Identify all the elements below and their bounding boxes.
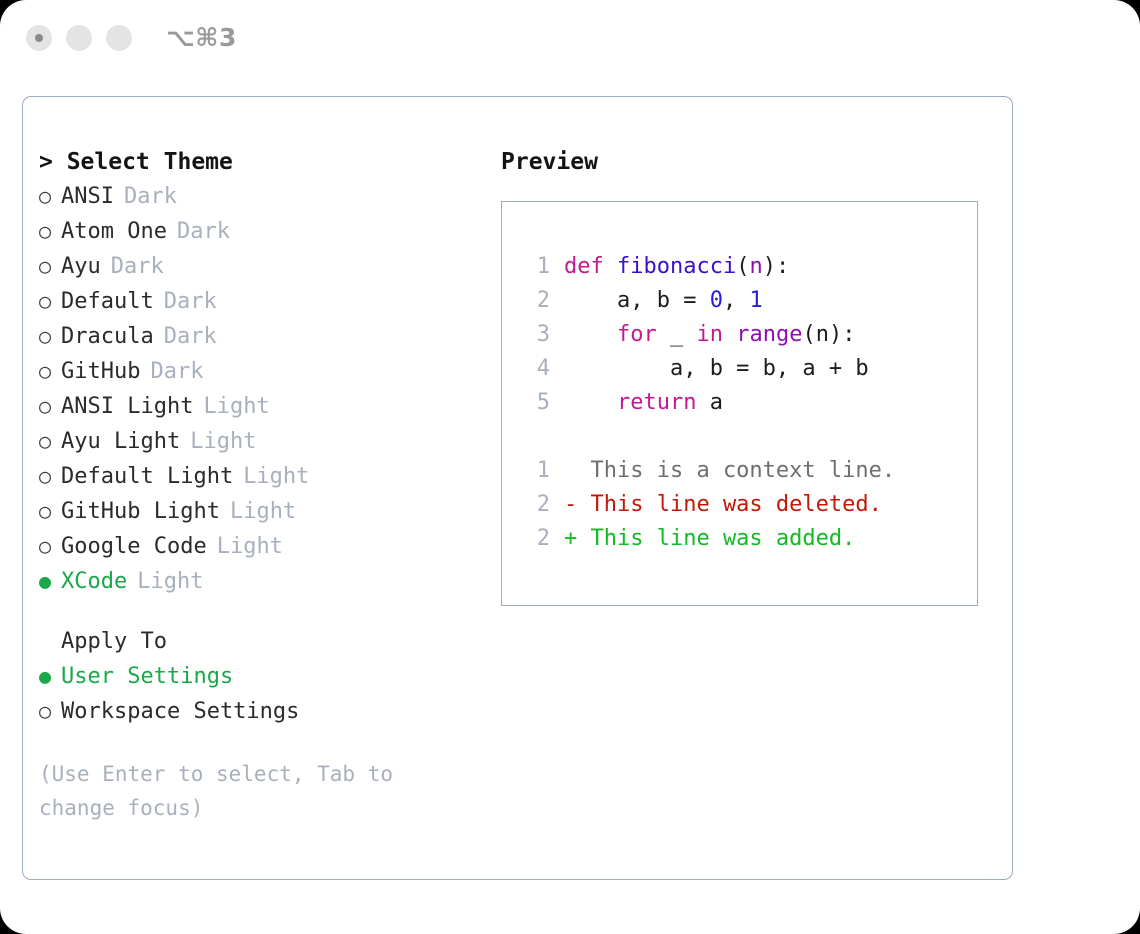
code-token-plain: ( [736,254,749,279]
theme-option-default-light[interactable]: ○Default LightLight [39,459,489,494]
radio-selected-icon: ● [39,659,61,693]
code-token-kw: for [617,322,657,347]
theme-option-label: GitHub [61,355,140,389]
code-line-number: 3 [516,318,550,352]
traffic-light-minimize-icon[interactable] [66,25,92,51]
theme-option-xcode[interactable]: ●XCodeLight [39,564,489,599]
theme-option-kind: Light [190,425,256,459]
radio-unselected-icon: ○ [39,319,61,353]
theme-option-dracula[interactable]: ○DraculaDark [39,319,489,354]
code-line: 3 for _ in range(n): [516,318,977,352]
theme-option-ansi[interactable]: ○ANSIDark [39,179,489,214]
theme-option-label: Default [61,285,154,319]
code-token-kw: def [564,254,617,279]
theme-option-default[interactable]: ○DefaultDark [39,284,489,319]
code-line-number: 1 [516,250,550,284]
code-token-plain: , [723,288,750,313]
traffic-light-maximize-icon[interactable] [106,25,132,51]
code-token-kw: in [696,322,723,347]
theme-option-kind: Dark [111,250,164,284]
code-token-fn: fibonacci [617,254,736,279]
theme-option-label: GitHub Light [61,495,220,529]
theme-option-label: Google Code [61,530,207,564]
radio-unselected-icon: ○ [39,529,61,563]
theme-option-label: Dracula [61,320,154,354]
code-line-number: 5 [516,386,550,420]
title-bar: ⌥⌘3 [0,0,1140,78]
theme-option-kind: Light [243,460,309,494]
keyboard-hint-text: (Use Enter to select, Tab to change focu… [39,757,439,825]
diff-sample: 1 This is a context line.2- This line wa… [516,454,977,556]
code-token-plain [723,322,736,347]
theme-option-kind: Dark [164,285,217,319]
theme-option-kind: Light [203,390,269,424]
theme-option-kind: Dark [150,355,203,389]
diff-line-del: 2- This line was deleted. [516,488,977,522]
theme-option-kind: Light [217,530,283,564]
theme-option-list: ○ANSIDark○Atom OneDark○AyuDark○DefaultDa… [39,179,489,599]
traffic-light-close-icon[interactable] [26,25,52,51]
code-line-content: return a [564,386,723,420]
radio-unselected-icon: ○ [39,424,61,458]
theme-option-kind: Dark [124,180,177,214]
radio-unselected-icon: ○ [39,694,61,728]
code-line-number: 4 [516,352,550,386]
theme-option-label: Ayu [61,250,101,284]
diff-line-content: + This line was added. [564,522,855,556]
code-line-content: a, b = 0, 1 [564,284,763,318]
radio-unselected-icon: ○ [39,179,61,213]
diff-line-add: 2+ This line was added. [516,522,977,556]
radio-unselected-icon: ○ [39,389,61,423]
theme-option-kind: Light [137,565,203,599]
theme-option-ansi-light[interactable]: ○ANSI LightLight [39,389,489,424]
radio-unselected-icon: ○ [39,284,61,318]
diff-line-number: 2 [516,488,550,522]
code-line: 4 a, b = b, a + b [516,352,977,386]
apply-to-heading: Apply To [39,625,489,659]
code-token-plain: (n): [802,322,855,347]
theme-option-github[interactable]: ○GitHubDark [39,354,489,389]
radio-unselected-icon: ○ [39,494,61,528]
theme-option-label: ANSI [61,180,114,214]
code-spacer [516,420,977,454]
code-token-param: n [749,254,762,279]
theme-option-atom-one[interactable]: ○Atom OneDark [39,214,489,249]
apply-to-option-label: User Settings [61,660,233,694]
code-sample: 1def fibonacci(n):2 a, b = 0, 13 for _ i… [516,250,977,420]
code-token-plain: _ [657,322,697,347]
theme-option-github-light[interactable]: ○GitHub LightLight [39,494,489,529]
code-token-num: 1 [749,288,762,313]
code-line-content: def fibonacci(n): [564,250,789,284]
radio-unselected-icon: ○ [39,249,61,283]
preview-column: Preview 1def fibonacci(n):2 a, b = 0, 13… [501,145,991,606]
apply-to-option-workspace-settings[interactable]: ○Workspace Settings [39,694,489,729]
apply-to-option-user-settings[interactable]: ●User Settings [39,659,489,694]
code-token-plain: a, b = [564,288,710,313]
main-panel: > Select Theme ○ANSIDark○Atom OneDark○Ay… [22,96,1013,880]
code-token-call: range [736,322,802,347]
code-line-number: 2 [516,284,550,318]
code-token-num: 0 [710,288,723,313]
theme-option-label: XCode [61,565,127,599]
theme-option-label: Ayu Light [61,425,180,459]
radio-unselected-icon: ○ [39,214,61,248]
theme-option-google-code[interactable]: ○Google CodeLight [39,529,489,564]
diff-line-content: - This line was deleted. [564,488,882,522]
diff-line-ctx: 1 This is a context line. [516,454,977,488]
code-token-plain: a, b = b, a + b [564,356,869,381]
theme-option-kind: Light [230,495,296,529]
diff-line-content: This is a context line. [564,454,895,488]
code-line: 1def fibonacci(n): [516,250,977,284]
theme-option-ayu[interactable]: ○AyuDark [39,249,489,284]
apply-to-option-label: Workspace Settings [61,695,299,729]
theme-option-label: Default Light [61,460,233,494]
diff-line-number: 1 [516,454,550,488]
diff-line-number: 2 [516,522,550,556]
code-line: 5 return a [516,386,977,420]
app-window: ⌥⌘3 > Select Theme ○ANSIDark○Atom OneDar… [0,0,1140,934]
code-token-kw: return [617,390,696,415]
preview-heading: Preview [501,145,991,179]
preview-code-box: 1def fibonacci(n):2 a, b = 0, 13 for _ i… [501,201,978,606]
code-line-content: a, b = b, a + b [564,352,869,386]
select-theme-heading: > Select Theme [39,145,489,179]
window-shortcut-label: ⌥⌘3 [166,23,237,52]
theme-option-kind: Dark [177,215,230,249]
radio-unselected-icon: ○ [39,459,61,493]
theme-picker-column: > Select Theme ○ANSIDark○Atom OneDark○Ay… [39,145,489,825]
code-token-plain: ): [763,254,790,279]
apply-to-section: Apply To ●User Settings○Workspace Settin… [39,625,489,729]
theme-option-label: ANSI Light [61,390,193,424]
radio-unselected-icon: ○ [39,354,61,388]
theme-option-kind: Dark [164,320,217,354]
code-line: 2 a, b = 0, 1 [516,284,977,318]
apply-to-option-list: ●User Settings○Workspace Settings [39,659,489,729]
code-token-plain [564,322,617,347]
theme-option-ayu-light[interactable]: ○Ayu LightLight [39,424,489,459]
radio-selected-icon: ● [39,564,61,598]
code-token-plain: a [696,390,723,415]
code-line-content: for _ in range(n): [564,318,855,352]
theme-option-label: Atom One [61,215,167,249]
code-token-plain [564,390,617,415]
